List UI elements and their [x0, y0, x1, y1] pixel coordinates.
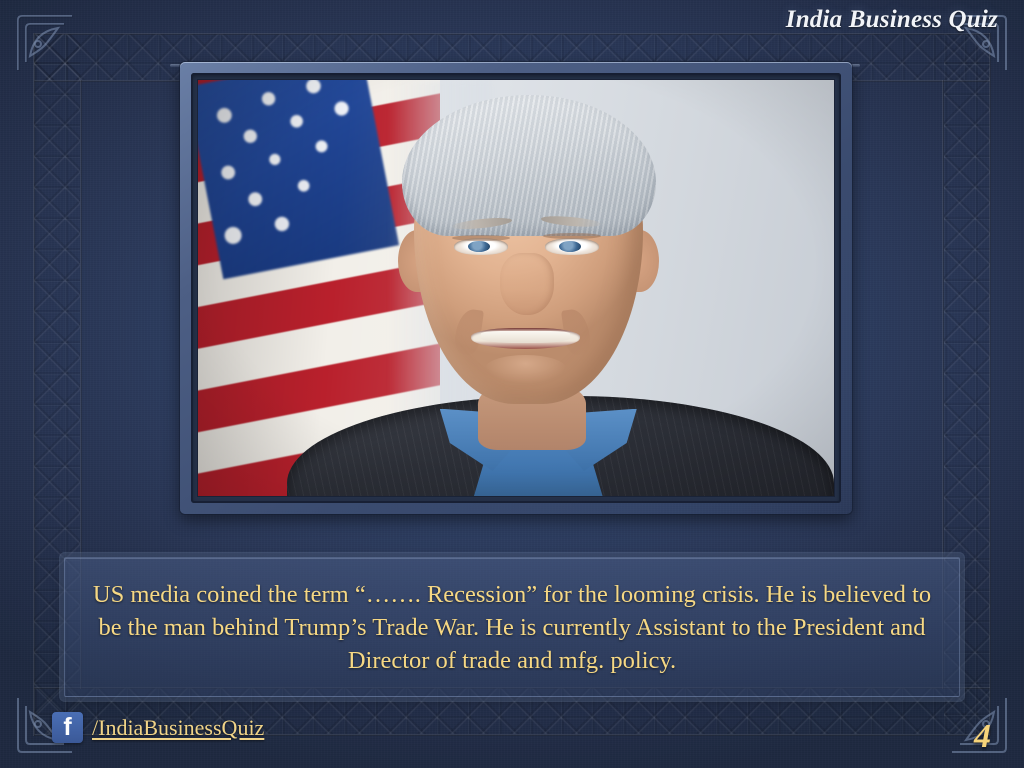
- photo-vignette: [198, 80, 834, 496]
- corner-ornament-icon: [14, 12, 76, 74]
- facebook-glyph: f: [52, 715, 83, 740]
- facebook-handle[interactable]: /IndiaBusinessQuiz: [92, 715, 264, 741]
- photo-frame: [180, 62, 852, 514]
- portrait-photo: [198, 80, 834, 496]
- facebook-link[interactable]: f /IndiaBusinessQuiz: [52, 712, 264, 743]
- border-rule-right-outer: [989, 33, 991, 736]
- question-text: US media coined the term “……. Recession”…: [74, 578, 950, 677]
- photo-frame-inner: [191, 73, 841, 503]
- page-number: 4: [974, 718, 991, 756]
- facebook-icon[interactable]: f: [52, 712, 83, 743]
- quiz-slide: India Business Quiz: [0, 0, 1024, 768]
- border-rule-left-outer: [33, 33, 35, 736]
- caption-panel: US media coined the term “……. Recession”…: [64, 557, 960, 697]
- page-title: India Business Quiz: [786, 6, 998, 34]
